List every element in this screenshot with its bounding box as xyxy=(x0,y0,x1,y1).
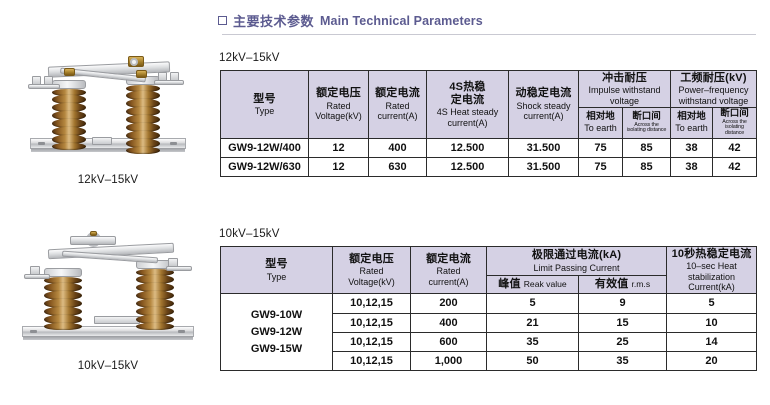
type-model-1: GW9-10W xyxy=(223,307,330,324)
base-clamp xyxy=(94,316,140,324)
table-header-row-main: 型号 Type 额定电压 Rated Voltage(kV) 额定电流 Rate… xyxy=(221,247,757,276)
cell-impulse-to-earth: 75 xyxy=(579,138,623,157)
col-header-impulse-withstand-voltage: 冲击耐压 Impulse withstand voltage xyxy=(579,71,671,108)
col-header-limit-passing-current: 极限通过电流(kA) Limit Passing Current xyxy=(487,247,667,276)
cell-rated-current: 400 xyxy=(411,313,487,332)
cell-rated-voltage: 12 xyxy=(309,138,369,157)
cell-pf-to-earth: 38 xyxy=(671,158,713,177)
col-header-rated-current: 额定电流 Rated current(A) xyxy=(369,71,427,139)
cell-rms-value: 25 xyxy=(579,332,667,351)
cell-shock-steady: 31.500 xyxy=(509,158,579,177)
cell-rated-current: 600 xyxy=(411,332,487,351)
figure-caption-1: 12kV–15kV xyxy=(8,174,208,186)
terminal-right xyxy=(136,70,147,78)
title-divider xyxy=(222,34,756,35)
page-title-en: Main Technical Parameters xyxy=(320,14,483,28)
col-header-peak-value: 峰值Reak value xyxy=(487,276,579,294)
connection-strip-left xyxy=(24,274,50,279)
product-figure-12kv: 12kV–15kV xyxy=(8,42,208,186)
table-header-row-main: 型号 Type 额定电压 Rated Voltage(kV) 额定电流 Rate… xyxy=(221,71,757,108)
page-root: 主要技术参数 Main Technical Parameters xyxy=(0,0,770,405)
cell-rated-voltage: 10,12,15 xyxy=(333,332,411,351)
section-label-12kv: 12kV–15kV xyxy=(219,52,280,64)
cell-rated-voltage: 12 xyxy=(309,158,369,177)
col-header-rated-voltage: 额定电压 Rated Voltage(kV) xyxy=(333,247,411,294)
cell-pf-across: 42 xyxy=(713,138,757,157)
terminal-left xyxy=(64,68,75,76)
cell-heat-stabilization: 5 xyxy=(667,294,757,313)
cell-rated-voltage: 10,12,15 xyxy=(333,352,411,371)
cell-impulse-to-earth: 75 xyxy=(579,158,623,177)
cell-pf-to-earth: 38 xyxy=(671,138,713,157)
cell-impulse-across: 85 xyxy=(623,138,671,157)
cell-rated-current: 200 xyxy=(411,294,487,313)
cell-heat-steady: 12.500 xyxy=(427,138,509,157)
connection-strip-right xyxy=(154,80,184,85)
type-model-3: GW9-15W xyxy=(223,341,330,358)
cell-impulse-across: 85 xyxy=(623,158,671,177)
type-model-2: GW9-12W xyxy=(223,324,330,341)
col-header-shock-steady-current: 动稳定电流 Shock steady current(A) xyxy=(509,71,579,139)
col-header-heat-stabilization-current: 10秒热稳定电流 10–sec Heat stabilization Curre… xyxy=(667,247,757,294)
cell-rated-voltage: 10,12,15 xyxy=(333,313,411,332)
table-technical-parameters-12kv: 型号 Type 额定电压 Rated Voltage(kV) 额定电流 Rate… xyxy=(220,70,757,177)
connection-strip-left xyxy=(28,84,60,89)
insulator-left xyxy=(52,80,86,149)
cell-pf-across: 42 xyxy=(713,158,757,177)
col-header-pf-across-isolating-distance: 断口间 Across the isolating distance xyxy=(713,107,757,138)
cell-rms-value: 9 xyxy=(579,294,667,313)
cell-shock-steady: 31.500 xyxy=(509,138,579,157)
cell-peak-value: 35 xyxy=(487,332,579,351)
cell-rated-current: 1,000 xyxy=(411,352,487,371)
checkbox-icon xyxy=(218,16,227,25)
table-row: GW9-10W GW9-12W GW9-15W 10,12,15 200 5 9… xyxy=(221,294,757,313)
connection-strip-right xyxy=(166,266,192,271)
base-clamp xyxy=(92,137,112,145)
col-header-impulse-across-isolating-distance: 断口间 Across the isolating distance xyxy=(623,107,671,138)
cell-heat-stabilization: 20 xyxy=(667,352,757,371)
terminal-ring xyxy=(130,58,138,66)
terminal-top xyxy=(90,231,97,236)
col-header-rated-voltage: 额定电压 Rated Voltage(kV) xyxy=(309,71,369,139)
cell-peak-value: 5 xyxy=(487,294,579,313)
base-bolt-hole xyxy=(178,330,185,333)
col-header-type: 型号 Type xyxy=(221,71,309,139)
col-header-heat-steady-current: 4S热稳 定电流 4S Heat steady current(A) xyxy=(427,71,509,139)
page-title-cn: 主要技术参数 xyxy=(233,11,314,30)
cell-type-group: GW9-10W GW9-12W GW9-15W xyxy=(221,294,333,371)
cell-rms-value: 35 xyxy=(579,352,667,371)
cell-heat-stabilization: 14 xyxy=(667,332,757,351)
col-header-power-frequency-withstand-voltage: 工频耐压(kV) Power–frequency withstand volta… xyxy=(671,71,757,108)
table-technical-parameters-10kv: 型号 Type 额定电压 Rated Voltage(kV) 额定电流 Rate… xyxy=(220,246,757,371)
cell-rms-value: 15 xyxy=(579,313,667,332)
cell-peak-value: 21 xyxy=(487,313,579,332)
cell-rated-current: 400 xyxy=(369,138,427,157)
section-label-10kv: 10kV–15kV xyxy=(219,228,280,240)
col-header-impulse-to-earth: 相对地 To earth xyxy=(579,107,623,138)
col-header-rms-value: 有效值r.m.s xyxy=(579,276,667,294)
table-row: GW9-12W/630 12 630 12.500 31.500 75 85 3… xyxy=(221,158,757,177)
figure-caption-2: 10kV–15kV xyxy=(8,360,208,372)
cell-type: GW9-12W/400 xyxy=(221,138,309,157)
table-row: GW9-12W/400 12 400 12.500 31.500 75 85 3… xyxy=(221,138,757,157)
cell-rated-voltage: 10,12,15 xyxy=(333,294,411,313)
cell-heat-steady: 12.500 xyxy=(427,158,509,177)
col-header-type: 型号 Type xyxy=(221,247,333,294)
col-header-pf-to-earth: 相对地 To earth xyxy=(671,107,713,138)
insulator-right xyxy=(126,76,160,153)
cell-rated-current: 630 xyxy=(369,158,427,177)
cell-type: GW9-12W/630 xyxy=(221,158,309,177)
product-figure-10kv: 10kV–15kV xyxy=(8,228,208,372)
col-header-rated-current: 额定电流 Rated current(A) xyxy=(411,247,487,294)
base-bolt-hole xyxy=(170,142,177,145)
operating-lever xyxy=(70,236,116,245)
disconnector-switch-image-2 xyxy=(8,228,208,358)
base-bolt-hole xyxy=(38,142,45,145)
page-title: 主要技术参数 Main Technical Parameters xyxy=(218,11,483,30)
disconnector-switch-image-1 xyxy=(8,42,208,172)
cell-heat-stabilization: 10 xyxy=(667,313,757,332)
base-bolt-hole xyxy=(30,330,37,333)
cell-peak-value: 50 xyxy=(487,352,579,371)
